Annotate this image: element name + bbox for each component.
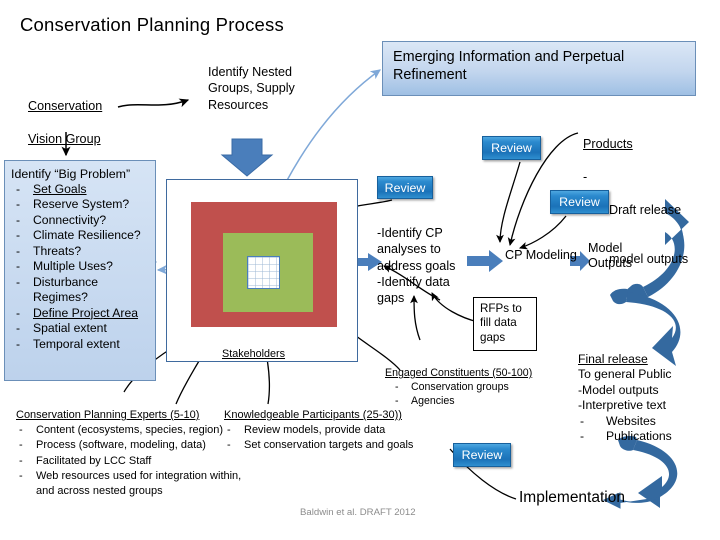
cpe-header: Conservation Planning Experts (5-10) — [16, 408, 241, 423]
identify-big-problem-panel: Identify “Big Problem” -Set Goals-Reserv… — [4, 160, 156, 381]
cpe-item-4-continuation: and across nested groups — [16, 484, 241, 499]
bullet-dash: - — [19, 454, 23, 469]
cpe-item-3: - Facilitated by LCC Staff — [16, 454, 241, 469]
rfps-box: RFPs to fill data gaps — [473, 297, 537, 351]
big-problem-item-10-label: Spatial extent — [33, 321, 107, 335]
kp-item-2-label: Set conservation targets and goals — [244, 439, 413, 451]
identify-cp-analyses-text: -Identify CP analyses to address goals -… — [377, 225, 455, 307]
conservation-planning-experts-block: Conservation Planning Experts (5-10) - C… — [16, 408, 241, 499]
bullet-dash: - — [16, 182, 20, 197]
big-problem-item-2: -Reserve System? — [11, 197, 150, 212]
final-release-header: Final release — [578, 352, 672, 367]
engaged-constituents-block: Engaged Constituents (50-100) - Conserva… — [385, 367, 532, 408]
engaged-constituents-item-1-label: Conservation groups — [411, 381, 509, 393]
bullet-dash: - — [16, 275, 20, 290]
big-problem-item-6: -Multiple Uses? — [11, 259, 150, 274]
bullet-dash: - — [580, 429, 584, 444]
final-release-block: Final release To general Public -Model o… — [578, 352, 672, 444]
blue-arrow-to-cp-modeling — [467, 250, 503, 272]
products-item-1-line1: Draft release — [609, 203, 681, 217]
page-title: Conservation Planning Process — [20, 14, 284, 36]
review-button-4[interactable]: Review — [453, 443, 511, 467]
big-problem-item-8: Regimes? — [11, 290, 150, 305]
big-problem-item-1-label: Set Goals — [33, 182, 87, 196]
big-problem-item-3-label: Connectivity? — [33, 213, 106, 227]
bullet-dash: - — [227, 423, 231, 438]
big-problem-list: -Set Goals-Reserve System?-Connectivity?… — [11, 182, 150, 352]
engaged-constituents-item-2-label: Agencies — [411, 395, 455, 407]
final-release-bullet-2-label: Publications — [606, 429, 672, 443]
emerging-information-box: Emerging Information and Perpetual Refin… — [382, 41, 696, 96]
big-problem-item-10: -Spatial extent — [11, 321, 150, 336]
cvg-line-1: Conservation — [28, 98, 102, 114]
cpe-item-3-label: Facilitated by LCC Staff — [36, 455, 151, 467]
big-problem-item-9-label: Define Project Area — [33, 306, 138, 320]
review-button-2[interactable]: Review — [482, 136, 541, 160]
model-outputs-label: Model Outputs — [588, 241, 632, 272]
cpe-item-4: - Web resources used for integration wit… — [16, 469, 241, 484]
identify-nested-groups-label: Identify Nested Groups, Supply Resources — [208, 64, 295, 113]
big-problem-item-4: -Climate Resilience? — [11, 228, 150, 243]
cpe-item-2: - Process (software, modeling, data) — [16, 438, 241, 453]
cpe-item-1: - Content (ecosystems, species, region) — [16, 423, 241, 438]
big-problem-item-7-label: Disturbance — [33, 275, 98, 289]
bullet-dash: - — [227, 438, 231, 453]
big-problem-item-9: -Define Project Area — [11, 306, 150, 321]
final-release-line-1: To general Public — [578, 367, 672, 382]
big-problem-item-7: -Disturbance — [11, 275, 150, 290]
bullet-dash: - — [16, 197, 20, 212]
bullet-dash: - — [16, 306, 20, 321]
big-problem-item-5-label: Threats? — [33, 244, 81, 258]
final-release-bullet-1: - Websites — [578, 414, 672, 429]
inner-core-square — [247, 256, 280, 289]
bullet-dash: - — [580, 414, 584, 429]
big-problem-item-11: -Temporal extent — [11, 337, 150, 352]
diagram-canvas: Conservation Planning Process Conservati… — [0, 0, 720, 540]
products-item-1: - Draft release — [583, 169, 688, 218]
big-problem-item-8-label: Regimes? — [33, 290, 88, 304]
kp-item-1: - Review models, provide data — [224, 423, 413, 438]
blue-down-arrow — [222, 139, 272, 176]
cpe-item-1-label: Content (ecosystems, species, region) — [36, 424, 223, 436]
bullet-dash: - — [16, 213, 20, 228]
implementation-label: Implementation — [519, 489, 625, 507]
footer-citation: Baldwin et al. DRAFT 2012 — [300, 507, 416, 518]
final-release-line-3: -Interpretive text — [578, 398, 672, 413]
cp-modeling-label: CP Modeling — [505, 248, 577, 262]
bullet-dash: - — [19, 423, 23, 438]
kp-item-2: - Set conservation targets and goals — [224, 438, 413, 453]
engaged-constituents-item-1: - Conservation groups — [385, 381, 532, 395]
arrow-review3-to-cpmodeling — [520, 216, 566, 248]
bullet-dash: - — [16, 244, 20, 259]
kp-header: Knowledgeable Participants (25-30)) — [224, 408, 413, 423]
bullet-dash: - — [395, 381, 399, 395]
engaged-constituents-item-2: - Agencies — [385, 395, 532, 409]
final-release-line-2: -Model outputs — [578, 383, 672, 398]
stakeholders-label: Stakeholders — [222, 348, 285, 360]
cvg-line-2: Vision Group — [28, 131, 102, 147]
bullet-dash: - — [19, 469, 23, 484]
bullet-dash: - — [583, 169, 587, 185]
bullet-dash: - — [16, 321, 20, 336]
big-problem-item-3: -Connectivity? — [11, 213, 150, 228]
review-button-1[interactable]: Review — [377, 176, 433, 199]
big-problem-item-4-label: Climate Resilience? — [33, 228, 141, 242]
cpe-item-2-label: Process (software, modeling, data) — [36, 439, 206, 451]
big-problem-item-2-label: Reserve System? — [33, 197, 129, 211]
engaged-constituents-header: Engaged Constituents (50-100) — [385, 367, 532, 381]
big-problem-item-11-label: Temporal extent — [33, 337, 120, 351]
big-problem-item-6-label: Multiple Uses? — [33, 259, 113, 273]
arrow-review2-to-cpmodeling — [500, 162, 520, 242]
big-problem-item-5: -Threats? — [11, 244, 150, 259]
bullet-dash: - — [395, 395, 399, 409]
big-problem-header: Identify “Big Problem” — [11, 167, 150, 181]
kp-item-1-label: Review models, provide data — [244, 424, 385, 436]
knowledgeable-participants-block: Knowledgeable Participants (25-30)) - Re… — [224, 408, 413, 454]
arrow-vision-to-nested — [118, 100, 188, 107]
bullet-dash: - — [16, 337, 20, 352]
nested-scales-diagram — [166, 179, 358, 362]
big-problem-item-1: -Set Goals — [11, 182, 150, 197]
cpe-item-4-label: Web resources used for integration withi… — [36, 470, 241, 482]
bullet-dash: - — [16, 228, 20, 243]
final-release-bullet-1-label: Websites — [606, 414, 656, 428]
products-header: Products — [583, 136, 688, 152]
bullet-dash: - — [16, 259, 20, 274]
bullet-dash: - — [19, 438, 23, 453]
final-release-bullet-2: - Publications — [578, 429, 672, 444]
